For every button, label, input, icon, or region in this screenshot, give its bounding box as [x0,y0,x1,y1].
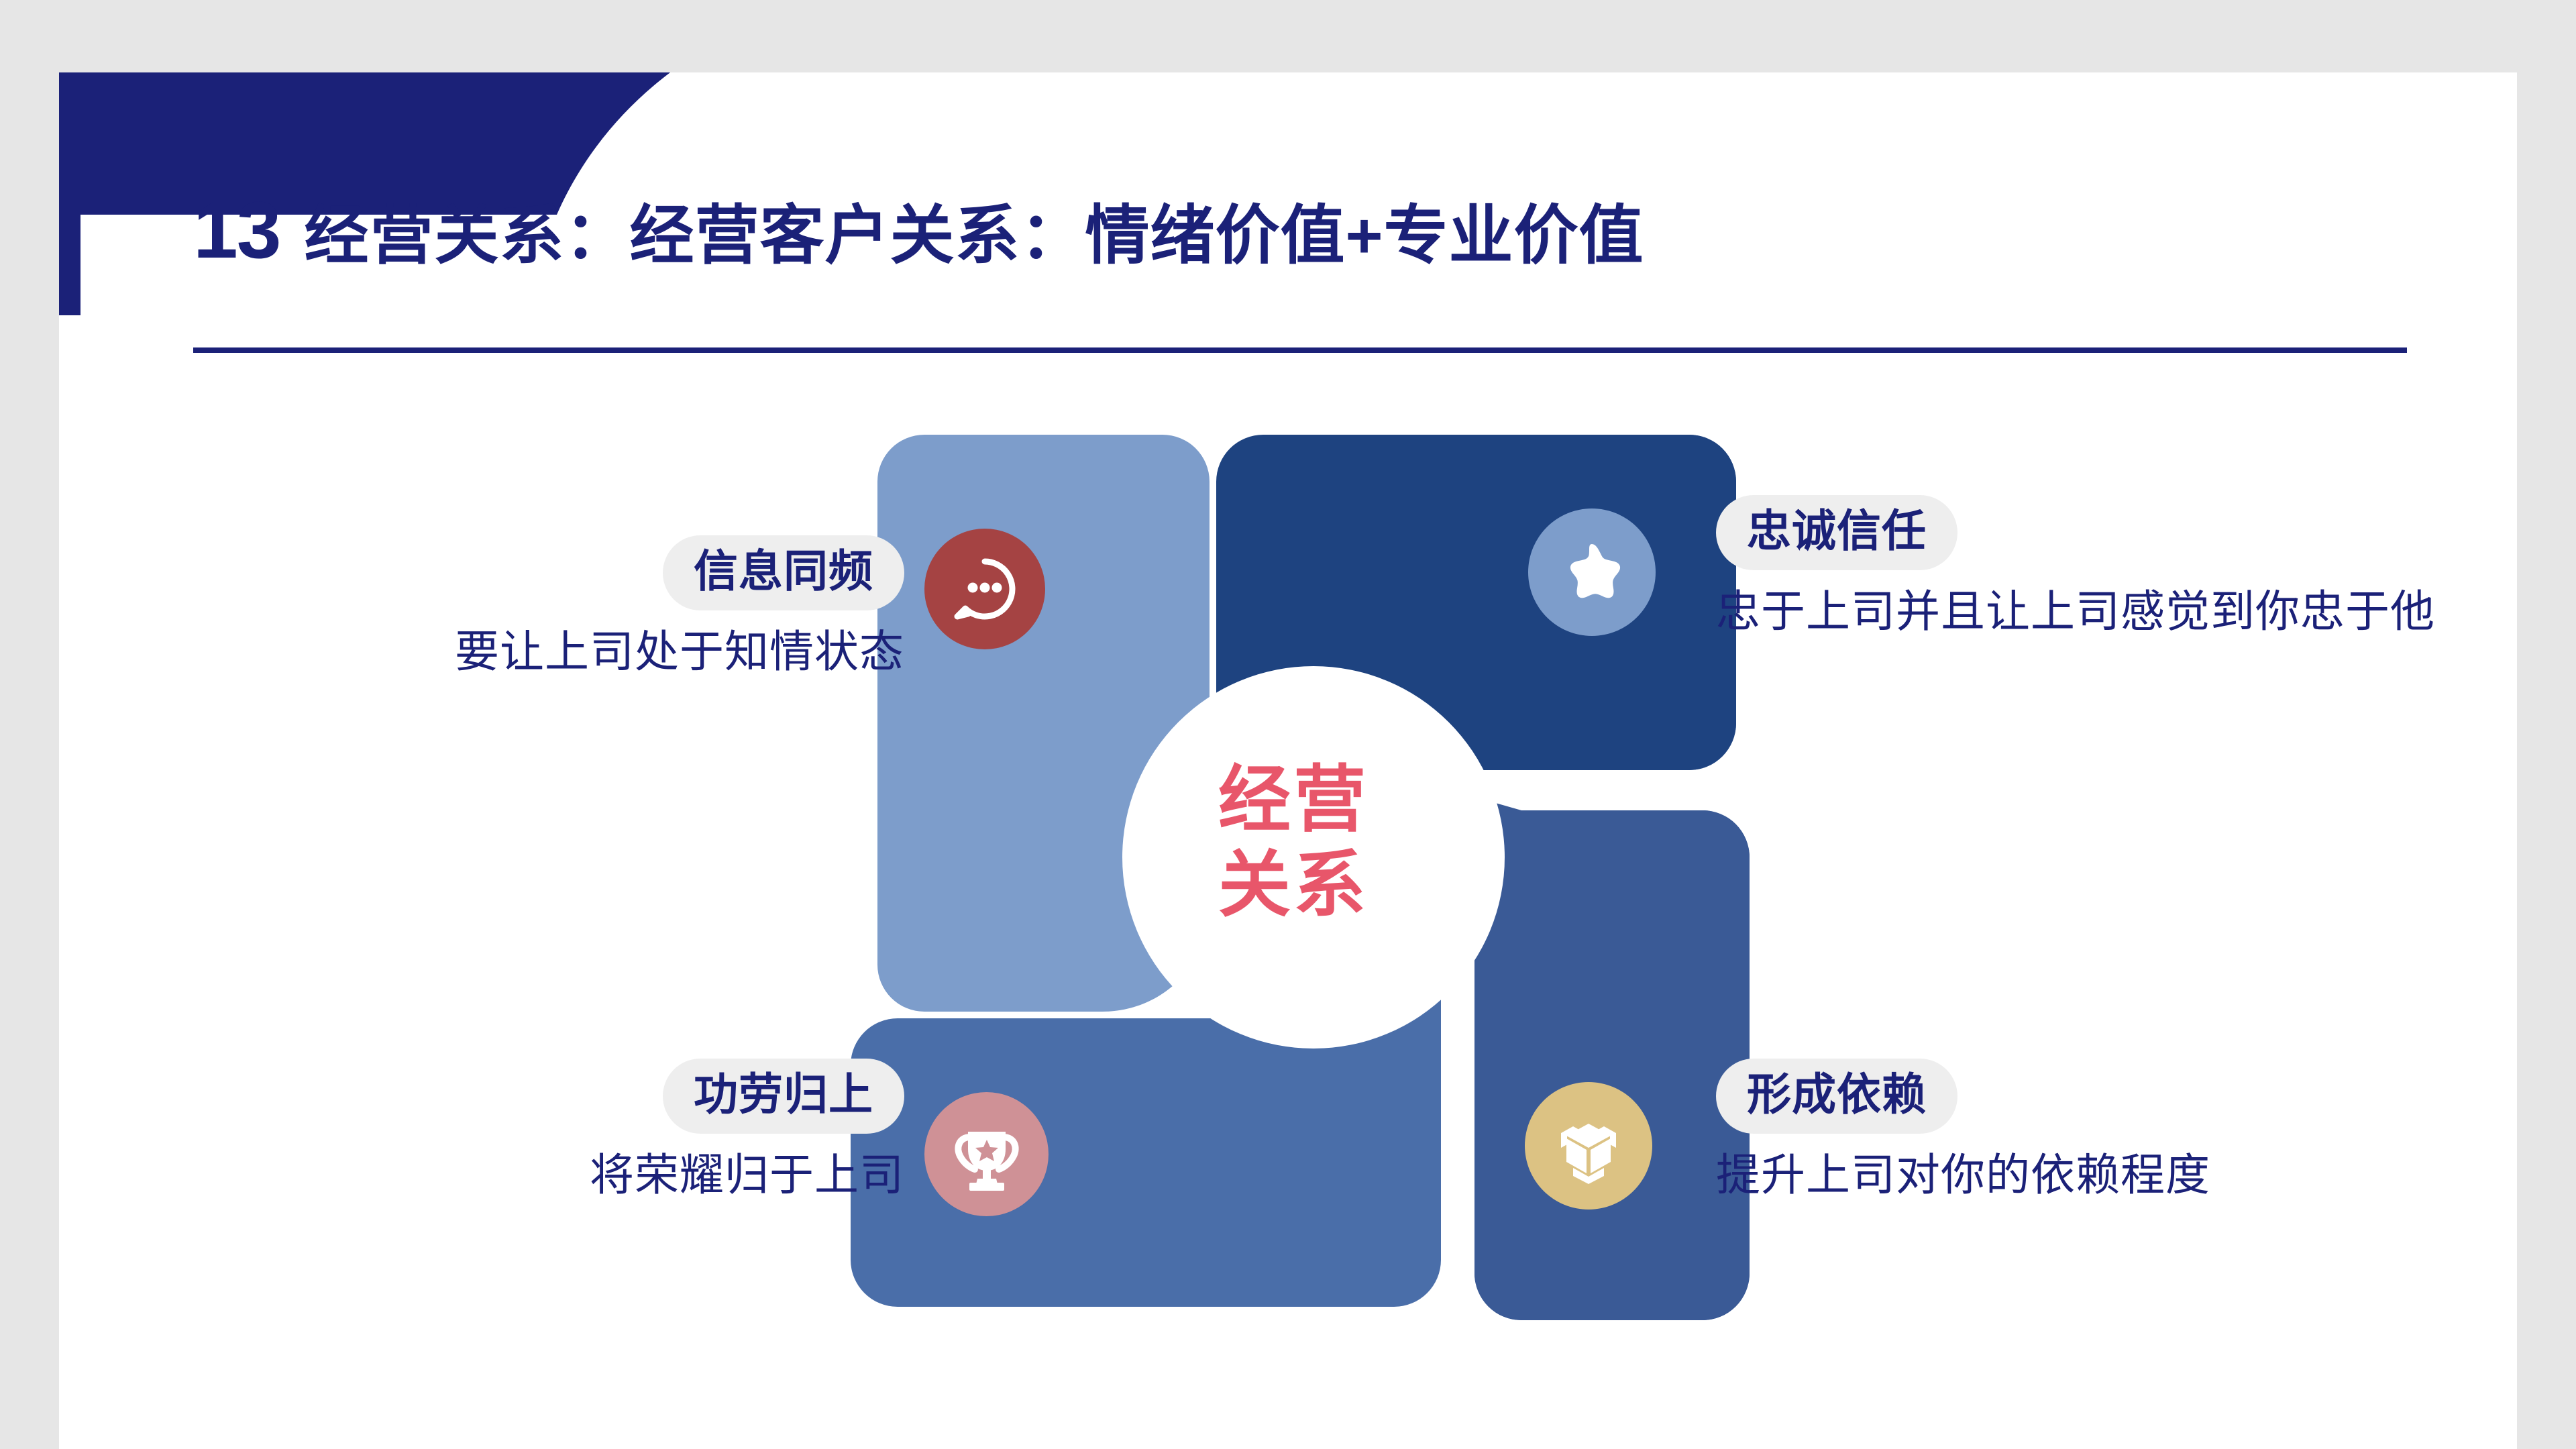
center-label: 经营 关系 [1159,757,1428,928]
cube-arrows-icon [1525,1082,1652,1210]
quadrant-top-right: 忠诚信任 忠于上司并且让上司感觉到你忠于他 [1716,495,2508,642]
quadrant-top-left: 信息同频 要让上司处于知情状态 [180,535,904,682]
page-title: 经营关系：经营客户关系：情绪价值+专业价值 [304,204,1644,268]
star-icon [1528,508,1656,636]
slide-number: 13 [193,190,280,270]
quadrant-label-形成依赖: 形成依赖 [1716,1059,1957,1134]
quadrant-bottom-right: 形成依赖 提升上司对你的依赖程度 [1716,1059,2508,1205]
quadrant-label-忠诚信任: 忠诚信任 [1716,495,1957,570]
quadrant-description-bottom-right: 提升上司对你的依赖程度 [1716,1144,2508,1205]
quadrant-description-top-left: 要让上司处于知情状态 [180,621,904,682]
quadrant-label-信息同频: 信息同频 [663,535,904,610]
chat-bubble-dots-icon [924,529,1045,649]
center-label-line1: 经营 [1159,757,1428,842]
slide-canvas: 13 经营关系：经营客户关系：情绪价值+专业价值 [59,72,2517,1449]
quadrant-label-功劳归上: 功劳归上 [663,1059,904,1134]
quadrant-description-top-right: 忠于上司并且让上司感觉到你忠于他 [1716,581,2508,642]
quadrant-bottom-left: 功劳归上 将荣耀归于上司 [180,1059,904,1205]
title-divider [193,347,2407,353]
quadrant-description-bottom-left: 将荣耀归于上司 [180,1144,904,1205]
center-label-line2: 关系 [1159,842,1428,927]
title-row: 13 经营关系：经营客户关系：情绪价值+专业价值 [193,190,2420,270]
slide-header: 13 经营关系：经营客户关系：情绪价值+专业价值 [193,190,2420,364]
trophy-icon [924,1092,1049,1216]
